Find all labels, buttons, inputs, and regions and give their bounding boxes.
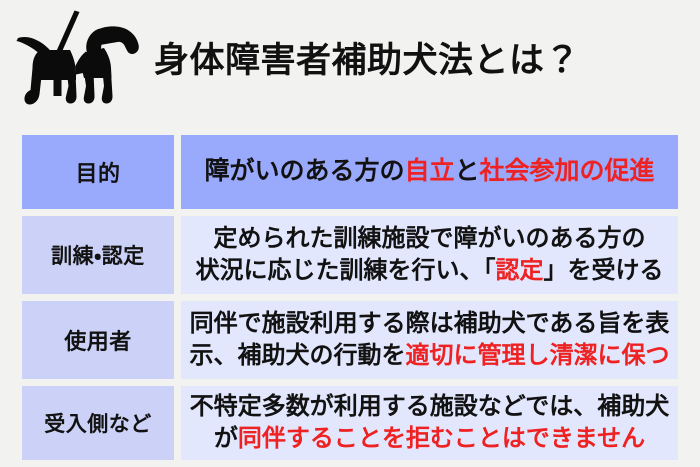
highlight-segment: 自立	[404, 157, 454, 185]
table-row: 訓練・認定 定められた訓練施設で障がいのある方の 状況に応じた訓練を行い、「認定…	[22, 216, 678, 294]
content-line: 示、補助犬の行動を適切に管理し清潔に保つ	[190, 340, 670, 372]
highlight-segment: 社会参加の促進	[480, 157, 655, 185]
text-segment: 定められた訓練施設で障がいのある方の	[214, 225, 646, 252]
page-title: 身体障害者補助犬法とは？	[154, 43, 580, 78]
column-divider	[174, 301, 181, 379]
guide-dog-icon	[12, 8, 148, 112]
law-summary-table: 目的 障がいのある方の自立と社会参加の促進 訓練・認定 定められた訓練施設で障が…	[22, 135, 678, 460]
infographic-page: 身体障害者補助犬法とは？ 目的 障がいのある方の自立と社会参加の促進 訓練・認定…	[0, 0, 700, 467]
row-label: 受入側など	[22, 386, 174, 460]
highlight-segment: 認定	[496, 257, 544, 284]
content-line: 不特定多数が利用する施設などでは、補助犬	[190, 391, 670, 423]
content-line: 障がいのある方の自立と社会参加の促進	[204, 155, 654, 188]
table-row: 使用者 同伴で施設利用する際は補助犬である旨を表 示、補助犬の行動を適切に管理し…	[22, 301, 678, 379]
header: 身体障害者補助犬法とは？	[0, 0, 700, 120]
column-divider	[174, 216, 181, 294]
row-content: 障がいのある方の自立と社会参加の促進	[181, 135, 678, 209]
content-line: 状況に応じた訓練を行い、「認定」を受ける	[196, 255, 664, 287]
text-segment: 状況に応じた訓練を行い、「	[196, 257, 496, 284]
text-segment: 障がいのある方の	[204, 157, 404, 185]
text-segment: が	[214, 425, 238, 452]
text-segment: と	[455, 157, 480, 185]
text-segment: 不特定多数が利用する施設などでは、補助犬	[190, 393, 670, 420]
row-content: 定められた訓練施設で障がいのある方の 状況に応じた訓練を行い、「認定」を受ける	[181, 216, 678, 294]
row-label: 訓練・認定	[22, 216, 174, 294]
row-label: 目的	[22, 135, 174, 209]
text-segment: 示、補助犬の行動を	[190, 342, 406, 369]
content-line: 定められた訓練施設で障がいのある方の	[214, 223, 646, 255]
content-line: が同伴することを拒むことはできません	[214, 423, 645, 455]
row-content: 同伴で施設利用する際は補助犬である旨を表 示、補助犬の行動を適切に管理し清潔に保…	[181, 301, 678, 379]
table-row: 受入側など 不特定多数が利用する施設などでは、補助犬 が同伴することを拒むことは…	[22, 386, 678, 460]
row-label: 使用者	[22, 301, 174, 379]
highlight-segment: 適切に管理し清潔に保つ	[406, 342, 670, 369]
table-row: 目的 障がいのある方の自立と社会参加の促進	[22, 135, 678, 209]
column-divider	[174, 135, 181, 209]
highlight-segment: 同伴することを拒むことはできません	[238, 425, 645, 452]
text-segment: 」を受ける	[544, 257, 664, 284]
content-line: 同伴で施設利用する際は補助犬である旨を表	[190, 308, 670, 340]
text-segment: 同伴で施設利用する際は補助犬である旨を表	[190, 310, 670, 337]
column-divider	[174, 386, 181, 460]
row-content: 不特定多数が利用する施設などでは、補助犬 が同伴することを拒むことはできません	[181, 386, 678, 460]
